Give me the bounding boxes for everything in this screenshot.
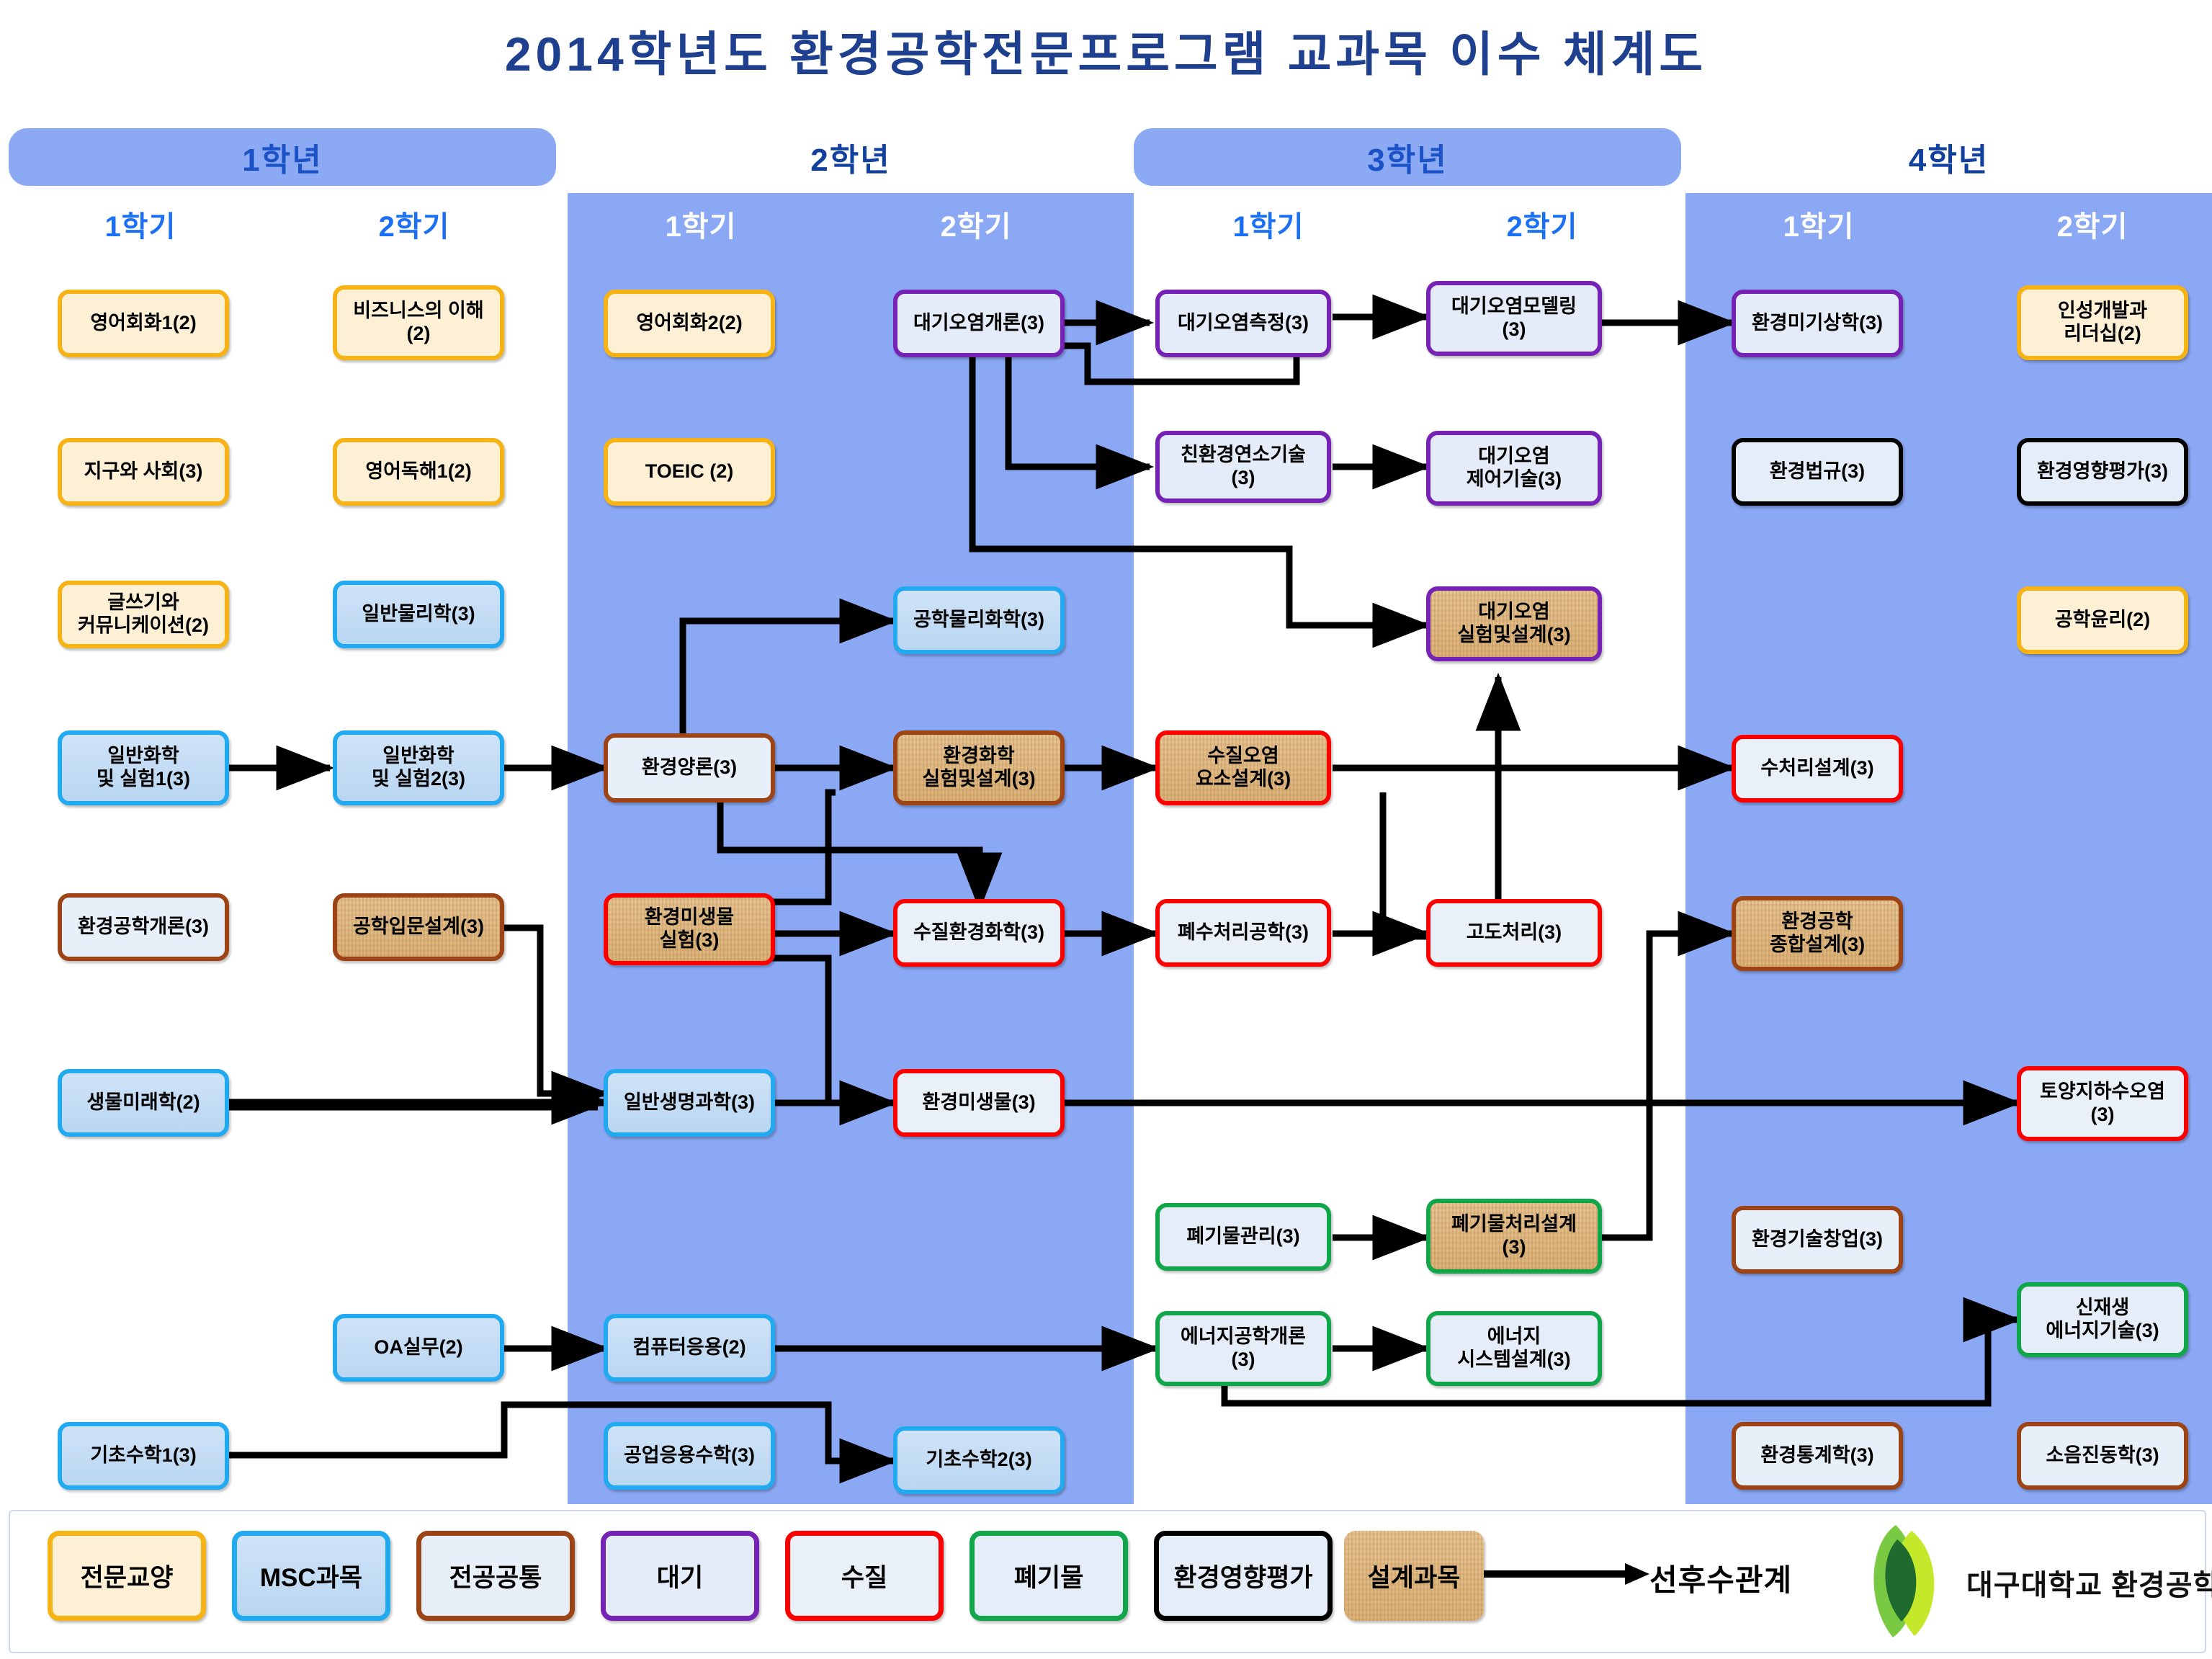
legend-arrow-label: 선후수관계 <box>1649 1556 1792 1600</box>
course-box-y4s1-b[interactable]: 환경법규(3) <box>1732 438 1903 506</box>
course-box-y3s1-f[interactable]: 에너지공학개론(3) <box>1155 1311 1331 1386</box>
course-box-y4s2-c[interactable]: 공학윤리(2) <box>2017 586 2188 654</box>
course-box-y4s2-b[interactable]: 환경영향평가(3) <box>2017 438 2188 506</box>
legend-item-msc[interactable]: MSC과목 <box>232 1531 390 1621</box>
department-name: 대구대학교 환경공학과 <box>1966 1562 2212 1604</box>
legend-item-general-education[interactable]: 전문교양 <box>48 1531 206 1621</box>
course-box-y1s1-b[interactable]: 지구와 사회(3) <box>58 438 229 506</box>
course-box-y1s2-d[interactable]: 일반화학및 실험2(3) <box>333 730 504 805</box>
legend-item-major-common[interactable]: 전공공통 <box>416 1531 575 1621</box>
year2-column-background <box>568 193 1134 1504</box>
course-box-y3s2-b[interactable]: 대기오염제어기술(3) <box>1426 431 1602 506</box>
semester-label-y1s1: 1학기 <box>22 209 259 245</box>
legend-item-design-course[interactable]: 설계과목 <box>1344 1531 1484 1621</box>
semester-label-y4s1: 1학기 <box>1700 209 1938 245</box>
legend-item-water[interactable]: 수질 <box>785 1531 944 1621</box>
year-band-1: 1학년 <box>9 128 556 186</box>
curriculum-flowchart: 2014학년도 환경공학전문프로그램 교과목 이수 체계도 1학년 2학년 3학… <box>0 0 2212 1659</box>
course-box-y1s1-d[interactable]: 일반화학및 실험1(3) <box>58 730 229 805</box>
course-box-y2s1-f[interactable]: 컴퓨터응용(2) <box>604 1314 775 1382</box>
course-box-y4s1-e[interactable]: 환경기술창업(3) <box>1732 1206 1903 1274</box>
course-box-y2s1-b[interactable]: TOEIC (2) <box>604 438 775 506</box>
course-box-y1s2-e[interactable]: 공학입문설계(3) <box>333 893 504 961</box>
course-box-y2s2-f[interactable]: 기초수학2(3) <box>893 1426 1065 1494</box>
semester-label-y3s1: 1학기 <box>1150 209 1387 245</box>
semester-label-y4s2: 2학기 <box>1974 209 2211 245</box>
semester-label-y2s2: 2학기 <box>857 209 1095 245</box>
course-box-y3s1-b[interactable]: 친환경연소기술(3) <box>1155 431 1331 503</box>
course-box-y3s1-c[interactable]: 수질오염요소설계(3) <box>1155 730 1331 805</box>
course-box-y1s2-c[interactable]: 일반물리학(3) <box>333 581 504 648</box>
course-box-y3s1-d[interactable]: 폐수처리공학(3) <box>1155 899 1331 967</box>
course-box-y1s2-f[interactable]: OA실무(2) <box>333 1314 504 1382</box>
course-box-y2s2-d[interactable]: 수질환경화학(3) <box>893 899 1065 967</box>
course-box-y4s2-a[interactable]: 인성개발과리더십(2) <box>2017 285 2188 360</box>
course-box-y3s2-f[interactable]: 에너지시스템설계(3) <box>1426 1311 1602 1386</box>
course-box-y4s1-a[interactable]: 환경미기상학(3) <box>1732 290 1903 357</box>
course-box-y1s1-a[interactable]: 영어회화1(2) <box>58 290 229 357</box>
course-box-y1s1-f[interactable]: 생물미래학(2) <box>58 1069 229 1137</box>
course-box-y3s2-e[interactable]: 폐기물처리설계(3) <box>1426 1199 1602 1274</box>
semester-label-y3s2: 2학기 <box>1423 209 1661 245</box>
course-box-y3s2-d[interactable]: 고도처리(3) <box>1426 899 1602 967</box>
course-box-y2s1-d[interactable]: 환경미생물실험(3) <box>604 893 775 965</box>
course-box-y2s2-c[interactable]: 환경화학실험및설계(3) <box>893 730 1065 805</box>
course-box-y4s1-d[interactable]: 환경공학종합설계(3) <box>1732 896 1903 971</box>
course-box-y4s2-f[interactable]: 소음진동학(3) <box>2017 1422 2188 1490</box>
course-box-y4s2-d[interactable]: 토양지하수오염(3) <box>2017 1066 2188 1141</box>
year-band-2: 2학년 <box>568 128 1134 186</box>
course-box-y1s2-a[interactable]: 비즈니스의 이해(2) <box>333 285 504 360</box>
legend-item-waste[interactable]: 폐기물 <box>970 1531 1128 1621</box>
page-title: 2014학년도 환경공학전문프로그램 교과목 이수 체계도 <box>0 16 2212 85</box>
course-box-y1s2-b[interactable]: 영어독해1(2) <box>333 438 504 506</box>
course-box-y3s1-a[interactable]: 대기오염측정(3) <box>1155 290 1331 357</box>
course-box-y4s1-f[interactable]: 환경통계학(3) <box>1732 1422 1903 1490</box>
course-box-y3s2-c[interactable]: 대기오염실험및설계(3) <box>1426 586 1602 661</box>
course-box-y2s2-a[interactable]: 대기오염개론(3) <box>893 290 1065 357</box>
course-box-y3s1-e[interactable]: 폐기물관리(3) <box>1155 1203 1331 1271</box>
course-box-y2s1-c[interactable]: 환경양론(3) <box>604 733 775 802</box>
course-box-y4s1-c[interactable]: 수처리설계(3) <box>1732 735 1903 802</box>
course-box-y3s2-a[interactable]: 대기오염모델링(3) <box>1426 281 1602 356</box>
university-logo-icon <box>1851 1524 1959 1639</box>
year-band-4: 4학년 <box>1685 128 2212 186</box>
legend-item-eia[interactable]: 환경영향평가 <box>1154 1531 1333 1621</box>
year-band-3: 3학년 <box>1134 128 1681 186</box>
course-box-y2s1-g[interactable]: 공업응용수학(3) <box>604 1422 775 1490</box>
course-box-y2s2-b[interactable]: 공학물리화학(3) <box>893 586 1065 654</box>
course-box-y2s1-a[interactable]: 영어회화2(2) <box>604 290 775 357</box>
semester-label-y2s1: 1학기 <box>582 209 820 245</box>
semester-label-y1s2: 2학기 <box>295 209 533 245</box>
prerequisite-arrow-icon <box>1484 1556 1649 1592</box>
course-box-y1s1-e[interactable]: 환경공학개론(3) <box>58 893 229 961</box>
course-box-y4s2-e[interactable]: 신재생에너지기술(3) <box>2017 1282 2188 1357</box>
course-box-y1s1-g[interactable]: 기초수학1(3) <box>58 1422 229 1490</box>
course-box-y2s1-e[interactable]: 일반생명과학(3) <box>604 1069 775 1137</box>
course-box-y1s1-c[interactable]: 글쓰기와커뮤니케이션(2) <box>58 581 229 648</box>
course-box-y2s2-e[interactable]: 환경미생물(3) <box>893 1069 1065 1137</box>
legend-item-air[interactable]: 대기 <box>601 1531 759 1621</box>
